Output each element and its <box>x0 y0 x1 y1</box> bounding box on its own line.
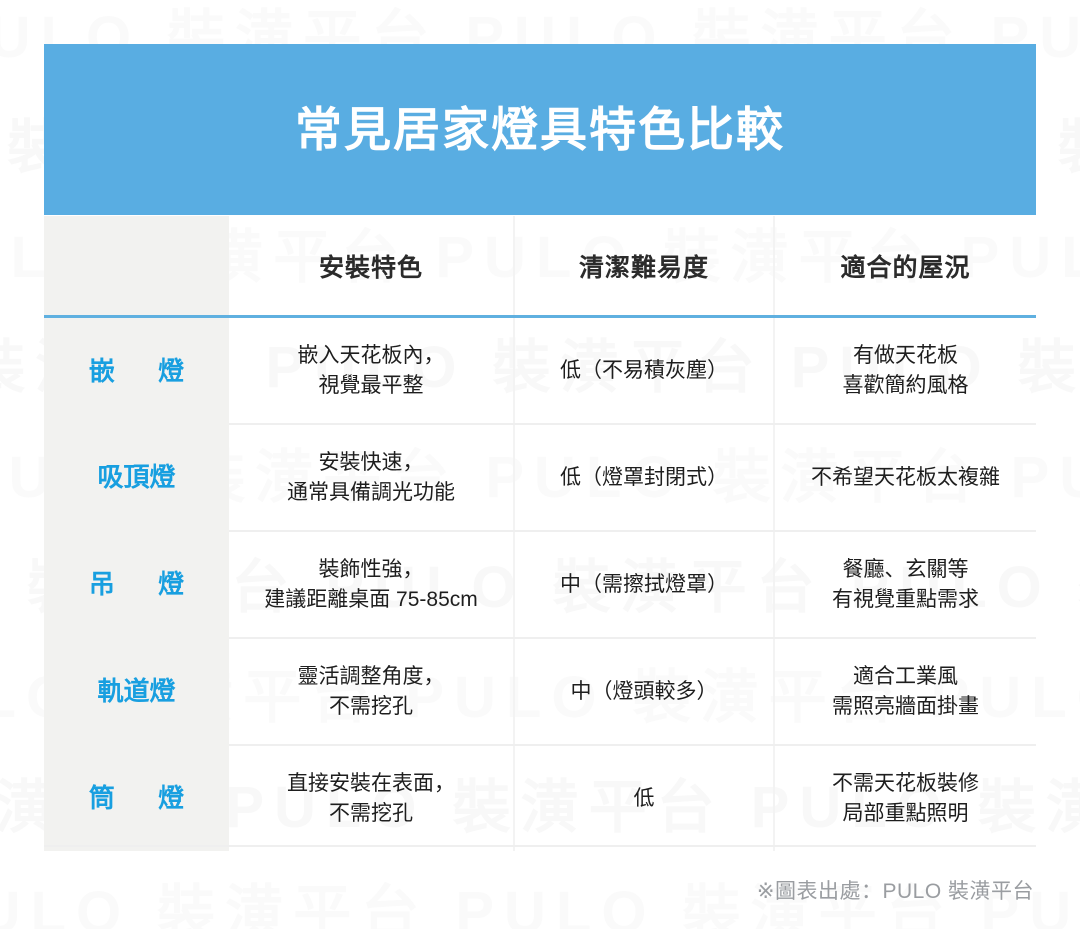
table-row: 嵌 燈 嵌入天花板內， 視覺最平整 低（不易積灰塵） 有做天花板 喜歡簡約風格 <box>44 317 1036 425</box>
cell-suitability: 適合工業風 需照亮牆面掛畫 <box>774 638 1036 745</box>
cell-line: 局部重點照明 <box>775 799 1036 829</box>
cell-line: 不需天花板裝修 <box>775 769 1036 799</box>
row-label-text: 嵌 燈 <box>71 356 202 386</box>
cell-installation: 安裝快速， 通常具備調光功能 <box>229 424 514 531</box>
table-row: 筒 燈 直接安裝在表面， 不需挖孔 低 不需天花板裝修 局部重點照明 <box>44 745 1036 851</box>
cell-suitability: 不需天花板裝修 局部重點照明 <box>774 745 1036 851</box>
cell-cleaning: 低（不易積灰塵） <box>514 317 774 425</box>
row-label-text: 吸頂燈 <box>97 462 175 492</box>
cell-line: 不需挖孔 <box>229 692 513 722</box>
cell-line: 有做天花板 <box>775 341 1036 371</box>
cell-line: 靈活調整角度， <box>229 662 513 692</box>
column-header-installation: 安裝特色 <box>229 216 514 317</box>
source-credit: ※圖表出處：PULO 裝潢平台 <box>757 875 1034 905</box>
cell-line: 視覺最平整 <box>229 371 513 401</box>
cell-line: 需照亮牆面掛畫 <box>775 692 1036 722</box>
column-header-type <box>44 216 229 317</box>
cell-line: 喜歡簡約風格 <box>775 371 1036 401</box>
table-row: 吸頂燈 安裝快速， 通常具備調光功能 低（燈罩封閉式） 不希望天花板太複雜 <box>44 424 1036 531</box>
table-header: 安裝特色 清潔難易度 適合的屋況 <box>44 216 1036 317</box>
cell-cleaning: 中（燈頭較多） <box>514 638 774 745</box>
table-row: 軌道燈 靈活調整角度， 不需挖孔 中（燈頭較多） 適合工業風 需照亮牆面掛畫 <box>44 638 1036 745</box>
cell-line: 低（不易積灰塵） <box>515 356 773 386</box>
row-label-surface-downlight: 筒 燈 <box>44 745 229 851</box>
cell-suitability: 餐廳、玄關等 有視覺重點需求 <box>774 531 1036 638</box>
cell-suitability: 有做天花板 喜歡簡約風格 <box>774 317 1036 425</box>
cell-cleaning: 低（燈罩封閉式） <box>514 424 774 531</box>
cell-line: 不需挖孔 <box>229 799 513 829</box>
cell-line: 建議距離桌面 75-85cm <box>229 585 513 615</box>
cell-cleaning: 低 <box>514 745 774 851</box>
table-bottom-divider <box>44 845 1036 847</box>
cell-line: 直接安裝在表面， <box>229 769 513 799</box>
row-label-pendant-light: 吊 燈 <box>44 531 229 638</box>
row-label-recessed-light: 嵌 燈 <box>44 317 229 425</box>
cell-cleaning: 中（需擦拭燈罩） <box>514 531 774 638</box>
cell-line: 不希望天花板太複雜 <box>775 463 1036 493</box>
cell-line: 中（燈頭較多） <box>515 677 773 707</box>
cell-line: 餐廳、玄關等 <box>775 555 1036 585</box>
column-header-suitability: 適合的屋況 <box>774 216 1036 317</box>
cell-line: 中（需擦拭燈罩） <box>515 570 773 600</box>
cell-installation: 靈活調整角度， 不需挖孔 <box>229 638 514 745</box>
cell-line: 有視覺重點需求 <box>775 585 1036 615</box>
cell-line: 低（燈罩封閉式） <box>515 463 773 493</box>
column-header-cleaning: 清潔難易度 <box>514 216 774 317</box>
table-header-row: 安裝特色 清潔難易度 適合的屋況 <box>44 216 1036 317</box>
cell-installation: 直接安裝在表面， 不需挖孔 <box>229 745 514 851</box>
row-label-text: 筒 燈 <box>71 783 202 813</box>
page-title: 常見居家燈具特色比較 <box>295 106 785 153</box>
cell-line: 裝飾性強， <box>229 555 513 585</box>
table-body: 嵌 燈 嵌入天花板內， 視覺最平整 低（不易積灰塵） 有做天花板 喜歡簡約風格 … <box>44 317 1036 852</box>
table-row: 吊 燈 裝飾性強， 建議距離桌面 75-85cm 中（需擦拭燈罩） 餐廳、玄關等… <box>44 531 1036 638</box>
cell-line: 嵌入天花板內， <box>229 341 513 371</box>
row-label-text: 軌道燈 <box>97 676 175 706</box>
row-label-text: 吊 燈 <box>71 569 202 599</box>
cell-line: 低 <box>515 784 773 814</box>
row-label-track-light: 軌道燈 <box>44 638 229 745</box>
cell-line: 適合工業風 <box>775 662 1036 692</box>
infographic-page: 常見居家燈具特色比較 安裝特色 清潔難易度 適合的屋況 嵌 燈 嵌入天花板內 <box>0 0 1080 929</box>
cell-installation: 嵌入天花板內， 視覺最平整 <box>229 317 514 425</box>
lighting-comparison-table: 安裝特色 清潔難易度 適合的屋況 嵌 燈 嵌入天花板內， 視覺最平整 低（不易積… <box>44 216 1036 851</box>
cell-line: 安裝快速， <box>229 448 513 478</box>
row-label-ceiling-light: 吸頂燈 <box>44 424 229 531</box>
title-banner: 常見居家燈具特色比較 <box>44 44 1036 215</box>
cell-installation: 裝飾性強， 建議距離桌面 75-85cm <box>229 531 514 638</box>
cell-line: 通常具備調光功能 <box>229 478 513 508</box>
cell-suitability: 不希望天花板太複雜 <box>774 424 1036 531</box>
